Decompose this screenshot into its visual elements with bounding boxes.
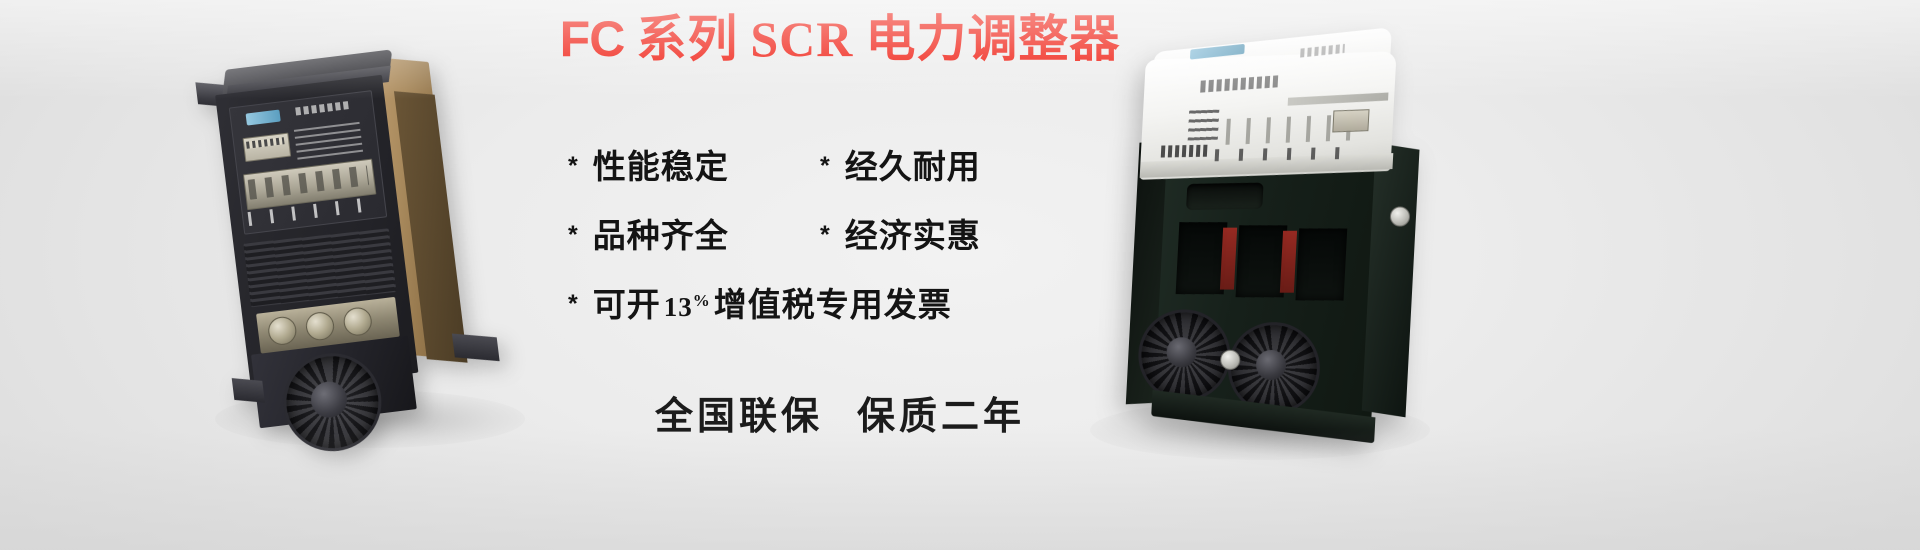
bullet-star-icon: * — [820, 221, 831, 250]
left-product-image — [194, 31, 537, 435]
headline-tech: SCR — [750, 11, 853, 67]
right-product-dip-switch-block — [1332, 109, 1369, 132]
bullet-star-icon: * — [568, 152, 579, 181]
feature-label: 经久耐用 — [845, 140, 981, 188]
bullet-star-icon: * — [568, 290, 579, 319]
feature-label: 经济实惠 — [845, 209, 981, 257]
right-product-load-label — [1161, 145, 1208, 158]
feature-row: * 性能稳定 * 经久耐用 — [568, 140, 1128, 184]
banner-text-column: FC系列SCR电力调整器 * 性能稳定 * 经久耐用 * 品种齐全 — [530, 0, 1150, 550]
bullet-star-icon: * — [568, 221, 579, 250]
headline-series: 系列 — [636, 11, 738, 67]
invoice-suffix: 增值税专用发票 — [714, 278, 952, 326]
feature-item-invoice: * 可开 13% 增值税专用发票 — [568, 278, 952, 326]
feature-item-durability: * 经久耐用 — [820, 140, 981, 188]
feature-item-economy: * 经济实惠 — [820, 209, 981, 257]
banner-headline: FC系列SCR电力调整器 — [520, 14, 1160, 64]
feature-label: 性能稳定 — [593, 140, 729, 188]
feature-row: * 可开 13% 增值税专用发票 — [568, 278, 1128, 322]
warranty-nationwide: 全国联保 — [655, 396, 823, 438]
feature-list: * 性能稳定 * 经久耐用 * 品种齐全 * 经济实惠 — [568, 140, 1128, 347]
feature-row: * 品种齐全 * 经济实惠 — [568, 209, 1128, 253]
headline-brand: FC — [560, 11, 625, 67]
warranty-guarantee: 保质二年 — [857, 396, 1025, 438]
invoice-prefix: 可开 — [593, 278, 661, 326]
headline-product: 电力调整器 — [865, 11, 1120, 67]
feature-label: 品种齐全 — [593, 209, 729, 257]
product-banner: FC系列SCR电力调整器 * 性能稳定 * 经久耐用 * 品种齐全 — [0, 0, 1920, 550]
warranty-line: 全国联保保质二年 — [520, 385, 1160, 440]
bullet-star-icon: * — [820, 152, 831, 181]
right-product-module-slot — [1295, 229, 1347, 301]
right-product-phase-labels — [1215, 147, 1346, 161]
feature-item-performance: * 性能稳定 — [568, 140, 820, 188]
invoice-tax-rate: 13% — [661, 291, 714, 323]
left-product-bottom-bracket — [232, 378, 265, 403]
right-product-led-indicators — [1188, 110, 1220, 141]
right-product-handle — [1186, 183, 1264, 210]
feature-item-variety: * 品种齐全 — [568, 209, 820, 257]
left-product-side-flange — [452, 333, 500, 361]
